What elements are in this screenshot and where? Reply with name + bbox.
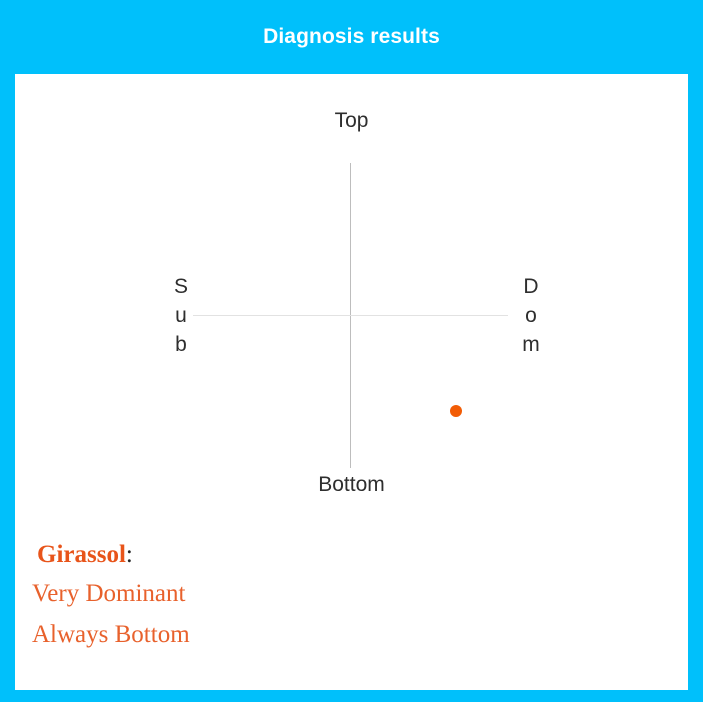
result-card: Top Bottom S u b D o m Girassol: Very Do… <box>15 74 688 690</box>
page-title: Diagnosis results <box>263 26 440 47</box>
axis-label-sub-letter-1: S <box>174 272 188 301</box>
axis-label-sub-letter-3: b <box>175 330 187 359</box>
subject-name: Girassol <box>37 541 126 568</box>
axis-label-dom: D o m <box>511 272 551 359</box>
diagnosis-summary: Girassol: Very Dominant Always Bottom <box>37 537 457 655</box>
axis-label-dom-letter-1: D <box>523 272 538 301</box>
axis-label-sub: S u b <box>161 272 201 359</box>
diagnosis-trait-position: Always Bottom <box>32 614 457 655</box>
diagnosis-trait-dominance: Very Dominant <box>32 573 457 614</box>
axis-label-sub-letter-2: u <box>175 301 187 330</box>
chart-data-point <box>450 405 462 417</box>
axis-label-dom-letter-3: m <box>522 330 540 359</box>
axis-label-bottom: Bottom <box>15 474 688 495</box>
chart-axis-horizontal <box>193 315 508 316</box>
axis-label-dom-letter-2: o <box>525 301 537 330</box>
axis-label-top: Top <box>15 110 688 131</box>
subject-colon: : <box>126 541 133 568</box>
subject-line: Girassol: <box>37 537 457 573</box>
app-header: Diagnosis results <box>0 0 703 74</box>
quadrant-chart: Top Bottom S u b D o m <box>15 74 688 504</box>
